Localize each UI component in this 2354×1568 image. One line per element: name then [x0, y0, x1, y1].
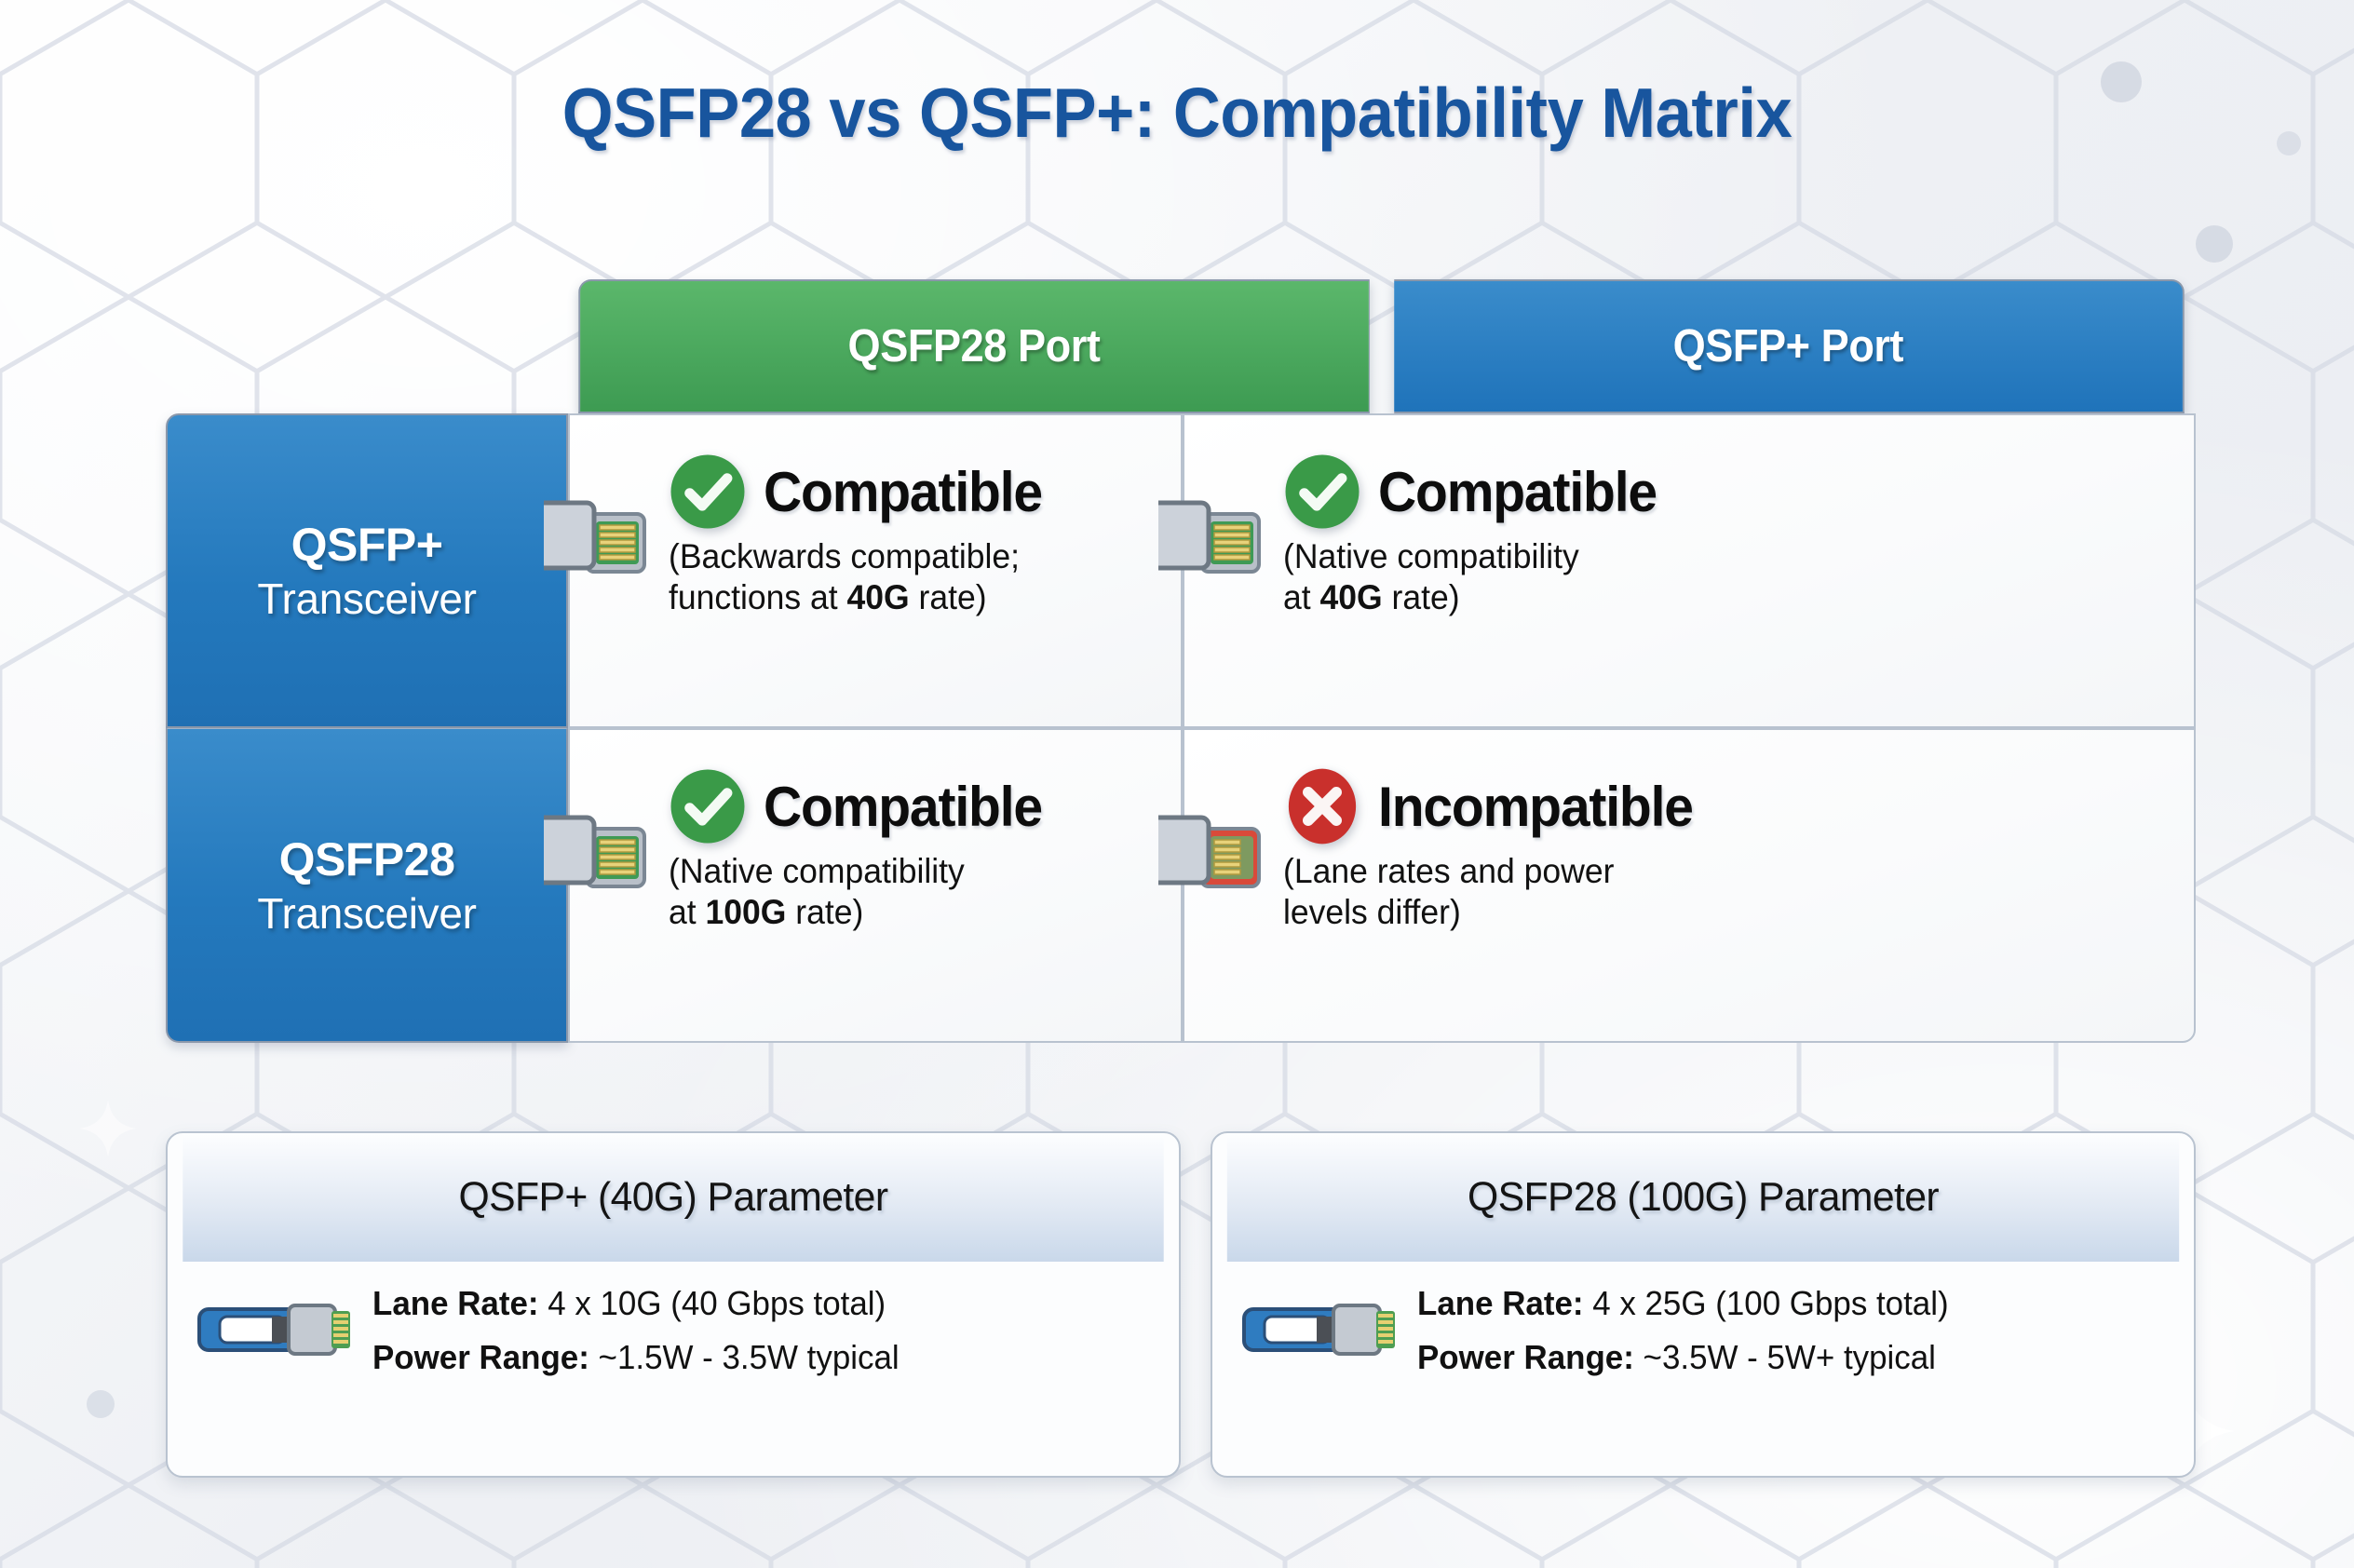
status-line: Incompatible — [1283, 767, 2194, 845]
qsfp-module-icon — [196, 1294, 352, 1368]
note-line-1: (Native compatibility — [669, 852, 965, 890]
qsfp-transceiver-icon — [544, 804, 656, 906]
parameter-panel-qsfpplus: QSFP+ (40G) Parameter Lane Rate: 4 x 10G… — [166, 1131, 1181, 1478]
panel-row-value: 4 x 10G (40 Gbps total) — [539, 1284, 886, 1322]
status-line: Compatible — [1283, 453, 2194, 531]
status-note: (Native compatibility at 40G rate) — [1283, 536, 2158, 618]
panel-row-label: Lane Rate: — [1417, 1284, 1584, 1322]
column-header-qsfpplus-port-label: QSFP+ Port — [1672, 320, 1903, 372]
row-header-qsfp28-transceiver: QSFP28 Transceiver — [166, 728, 568, 1043]
panel-title-qsfp28: QSFP28 (100G) Parameter — [1227, 1133, 2179, 1262]
note-line-2-after: rate) — [910, 578, 987, 616]
panel-row-label: Power Range: — [372, 1338, 589, 1376]
x-circle-icon — [1283, 767, 1361, 845]
row-header-qsfp28-line1: QSFP28 — [279, 832, 455, 886]
column-header-qsfp28-port-label: QSFP28 Port — [848, 320, 1101, 372]
status-label: Compatible — [764, 460, 1042, 524]
matrix-cell-text: Compatible (Native compatibility at 40G … — [1270, 453, 2194, 618]
note-line-2-before: at — [1283, 578, 1319, 616]
panel-row-value: ~1.5W - 3.5W typical — [589, 1338, 900, 1376]
row-header-qsfpplus-line1: QSFP+ — [291, 518, 443, 572]
panel-row-power-range: Power Range: ~3.5W - 5W+ typical — [1417, 1331, 1949, 1385]
note-rate: 100G — [705, 893, 786, 931]
status-line: Compatible — [669, 767, 1181, 845]
panel-parameter-lines: Lane Rate: 4 x 10G (40 Gbps total) Power… — [372, 1277, 900, 1386]
qsfp-module-icon — [1240, 1294, 1397, 1368]
matrix-cell-text: Incompatible (Lane rates and power level… — [1270, 767, 2194, 933]
parameter-panel-qsfp28: QSFP28 (100G) Parameter Lane Rate: 4 x 2… — [1211, 1131, 2196, 1478]
note-line-1: (Native compatibility — [1283, 537, 1579, 575]
note-line-2-after: rate) — [786, 893, 863, 931]
panel-row-label: Power Range: — [1417, 1338, 1634, 1376]
check-circle-icon — [1283, 453, 1361, 531]
note-line-2-before: levels differ) — [1283, 893, 1461, 931]
matrix-cell-text: Compatible (Native compatibility at 100G… — [656, 767, 1181, 933]
panel-row-value: 4 x 25G (100 Gbps total) — [1584, 1284, 1949, 1322]
row-header-qsfp28-line2: Transceiver — [257, 888, 476, 939]
note-rate: 40G — [847, 578, 910, 616]
matrix-cell-qsfpplus-in-qsfpplus-port: Compatible (Native compatibility at 40G … — [1183, 413, 2196, 728]
matrix-cell-qsfp28-in-qsfpplus-port: Incompatible (Lane rates and power level… — [1183, 728, 2196, 1043]
status-note: (Backwards compatible; functions at 40G … — [669, 536, 1160, 618]
status-line: Compatible — [669, 453, 1181, 531]
note-line-2-before: functions at — [669, 578, 847, 616]
panel-body: Lane Rate: 4 x 10G (40 Gbps total) Power… — [168, 1262, 1179, 1386]
note-line-2-after: rate) — [1383, 578, 1460, 616]
page-title: QSFP28 vs QSFP+: Compatibility Matrix — [71, 73, 2283, 153]
panel-parameter-lines: Lane Rate: 4 x 25G (100 Gbps total) Powe… — [1417, 1277, 1949, 1386]
matrix-body: QSFP+ Transceiver QSFP28 Transceiver — [166, 413, 2196, 1043]
matrix-cell-qsfpplus-in-qsfp28-port: Compatible (Backwards compatible; functi… — [568, 413, 1183, 728]
qsfp-transceiver-icon — [1158, 490, 1270, 591]
note-line-1: (Lane rates and power — [1283, 852, 1614, 890]
qsfp-transceiver-icon — [544, 490, 656, 591]
panel-row-lane-rate: Lane Rate: 4 x 25G (100 Gbps total) — [1417, 1277, 1949, 1331]
status-label: Compatible — [764, 775, 1042, 839]
note-line-1: (Backwards compatible; — [669, 537, 1020, 575]
panel-row-value: ~3.5W - 5W+ typical — [1634, 1338, 1936, 1376]
panel-title-qsfpplus: QSFP+ (40G) Parameter — [183, 1133, 1163, 1262]
status-note: (Lane rates and power levels differ) — [1283, 851, 2158, 933]
check-circle-icon — [669, 767, 747, 845]
matrix-column-header-row: QSFP28 Port QSFP+ Port — [566, 279, 2196, 413]
matrix-cell-qsfp28-in-qsfp28-port: Compatible (Native compatibility at 100G… — [568, 728, 1183, 1043]
note-line-2-before: at — [669, 893, 705, 931]
qsfp-transceiver-icon-error — [1158, 804, 1270, 906]
row-header-qsfpplus-transceiver: QSFP+ Transceiver — [166, 413, 568, 728]
column-header-qsfpplus-port: QSFP+ Port — [1394, 279, 2184, 413]
panel-row-power-range: Power Range: ~1.5W - 3.5W typical — [372, 1331, 900, 1385]
row-header-qsfpplus-line2: Transceiver — [257, 574, 476, 624]
sparkle-icon-secondary — [78, 1099, 138, 1158]
panel-row-lane-rate: Lane Rate: 4 x 10G (40 Gbps total) — [372, 1277, 900, 1331]
panel-row-label: Lane Rate: — [372, 1284, 539, 1322]
panel-body: Lane Rate: 4 x 25G (100 Gbps total) Powe… — [1212, 1262, 2194, 1386]
matrix-cell-text: Compatible (Backwards compatible; functi… — [656, 453, 1181, 618]
note-rate: 40G — [1319, 578, 1382, 616]
compatibility-matrix: QSFP28 Port QSFP+ Port QSFP+ Transceiver… — [166, 279, 2196, 1043]
check-circle-icon — [669, 453, 747, 531]
column-header-qsfp28-port: QSFP28 Port — [578, 279, 1369, 413]
status-label: Incompatible — [1378, 775, 1693, 839]
status-note: (Native compatibility at 100G rate) — [669, 851, 1160, 933]
status-label: Compatible — [1378, 460, 1657, 524]
